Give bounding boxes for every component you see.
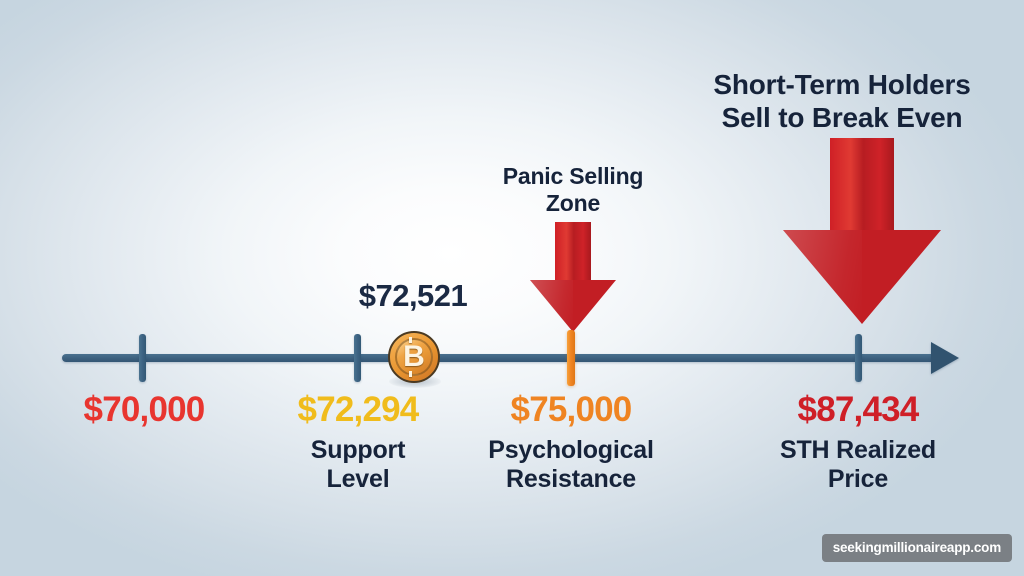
bitcoin-coin-icon: B — [386, 331, 442, 387]
down-arrow-icon-panic — [530, 222, 616, 330]
axis-tick-72294 — [354, 334, 361, 382]
price-axis-line — [62, 354, 940, 362]
price-level-value: $75,000 — [440, 392, 702, 429]
price-level-value: $70,000 — [22, 392, 266, 429]
price-level-description-line2: Resistance — [440, 465, 702, 494]
price-level-description-line1: Psychological — [440, 436, 702, 465]
annotation-panic-line2: Zone — [453, 190, 693, 217]
coin-body: B — [388, 331, 440, 383]
current-price-label: $72,521 — [318, 278, 508, 314]
bitcoin-price-levels-infographic: Short-Term Holders Sell to Break Even Pa… — [0, 0, 1024, 576]
price-level-value: $87,434 — [718, 392, 998, 429]
annotation-sth-headline: Short-Term Holders Sell to Break Even — [672, 68, 1012, 134]
down-arrow-icon-sth — [782, 138, 942, 324]
price-level-70000: $70,000 — [22, 392, 266, 429]
right-arrow-icon — [931, 342, 959, 374]
arrow-shaft — [830, 138, 894, 236]
axis-tick-87434 — [855, 334, 862, 382]
axis-tick-70000 — [139, 334, 146, 382]
annotation-sth-line2: Sell to Break Even — [672, 101, 1012, 134]
price-level-87434: $87,434 STH Realized Price — [718, 392, 998, 494]
annotation-sth-line1: Short-Term Holders — [672, 68, 1012, 101]
price-level-description-line1: STH Realized — [718, 436, 998, 465]
arrow-shaft — [555, 222, 591, 284]
price-level-description-line2: Price — [718, 465, 998, 494]
arrow-head — [530, 280, 616, 332]
price-level-75000: $75,000 Psychological Resistance — [440, 392, 702, 494]
price-level-description: STH Realized Price — [718, 436, 998, 494]
annotation-panic-line1: Panic Selling — [453, 163, 693, 190]
price-level-description: Psychological Resistance — [440, 436, 702, 494]
axis-tick-75000 — [567, 330, 575, 386]
watermark-badge: seekingmillionaireapp.com — [822, 534, 1012, 562]
coin-bitcoin-symbol: B — [403, 342, 425, 372]
annotation-panic-headline: Panic Selling Zone — [453, 163, 693, 217]
arrow-head — [783, 230, 941, 324]
